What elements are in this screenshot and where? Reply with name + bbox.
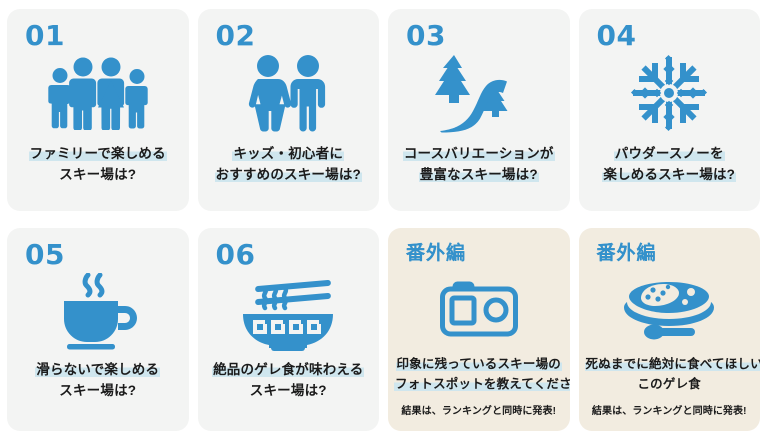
card-caption-06: 絶品のゲレ食が味わえる スキー場は?: [198, 359, 380, 401]
question-card-05[interactable]: 05 滑らないで楽しめる スキー場は?: [7, 228, 189, 431]
question-card-bonus-2[interactable]: 番外編: [579, 228, 761, 431]
caption-line: パウダースノーを: [585, 143, 755, 164]
question-card-bonus-1[interactable]: 番外編 印象に残っているスキー場の フォトスポットを教えてください 結果は、ラン…: [388, 228, 570, 431]
question-card-04[interactable]: 04: [579, 9, 761, 211]
question-card-01[interactable]: 01 ファミリーで楽しめる スキー場は?: [7, 9, 189, 211]
caption-line: ファミリーで楽しめる: [13, 143, 183, 164]
card-caption-01: ファミリーで楽しめる スキー場は?: [7, 143, 189, 185]
caption-line: スキー場は?: [204, 380, 374, 401]
card-badge-bonus-2: 番外編: [597, 244, 657, 263]
card-caption-bonus-2: 死ぬまでに絶対に食べてほしい このゲレ食: [579, 354, 761, 394]
question-card-02[interactable]: 02 キッズ・初心者に おすすめのスキー場は?: [198, 9, 380, 211]
card-note-bonus-1: 結果は、ランキングと同時に発表!: [388, 402, 570, 417]
card-badge-01: 01: [25, 22, 65, 50]
hot-coffee-cup-icon: [56, 273, 140, 351]
caption-line: おすすめのスキー場は?: [204, 164, 374, 185]
caption-line: 印象に残っているスキー場の: [394, 354, 564, 374]
card-note-bonus-2: 結果は、ランキングと同時に発表!: [579, 402, 761, 417]
card-badge-02: 02: [216, 22, 256, 50]
caption-line: 死ぬまでに絶対に食べてほしい: [585, 354, 755, 374]
caption-line: 楽しめるスキー場は?: [585, 164, 755, 185]
card-caption-03: コースバリエーションが 豊富なスキー場は?: [388, 143, 570, 185]
card-badge-bonus-1: 番外編: [406, 244, 466, 263]
card-caption-02: キッズ・初心者に おすすめのスキー場は?: [198, 143, 380, 185]
caption-line: フォトスポットを教えてください: [394, 374, 564, 394]
caption-line: 滑らないで楽しめる: [13, 359, 183, 380]
caption-line: スキー場は?: [13, 164, 183, 185]
ski-course-trees-icon: [426, 54, 532, 132]
caption-line: キッズ・初心者に: [204, 143, 374, 164]
card-badge-05: 05: [25, 241, 65, 269]
curry-plate-spoon-icon: [621, 271, 717, 347]
card-caption-bonus-1: 印象に残っているスキー場の フォトスポットを教えてください: [388, 354, 570, 394]
family-group-icon: [38, 54, 158, 132]
snowflake-icon: [629, 54, 709, 132]
caption-line: このゲレ食: [585, 374, 755, 394]
two-people-icon: [240, 54, 336, 132]
caption-line: 豊富なスキー場は?: [394, 164, 564, 185]
ramen-bowl-icon: [235, 273, 341, 351]
question-card-03[interactable]: 03 コースバリエーションが 豊富なスキー場は?: [388, 9, 570, 211]
card-badge-06: 06: [216, 241, 256, 269]
question-card-grid: 01 ファミリーで楽しめる スキー場は?: [0, 0, 767, 443]
card-badge-04: 04: [597, 22, 637, 50]
card-badge-03: 03: [406, 22, 446, 50]
action-camera-icon: [439, 271, 519, 347]
card-caption-04: パウダースノーを 楽しめるスキー場は?: [579, 143, 761, 185]
question-card-06[interactable]: 06: [198, 228, 380, 431]
caption-line: 絶品のゲレ食が味わえる: [204, 359, 374, 380]
caption-line: コースバリエーションが: [394, 143, 564, 164]
caption-line: スキー場は?: [13, 380, 183, 401]
card-caption-05: 滑らないで楽しめる スキー場は?: [7, 359, 189, 401]
